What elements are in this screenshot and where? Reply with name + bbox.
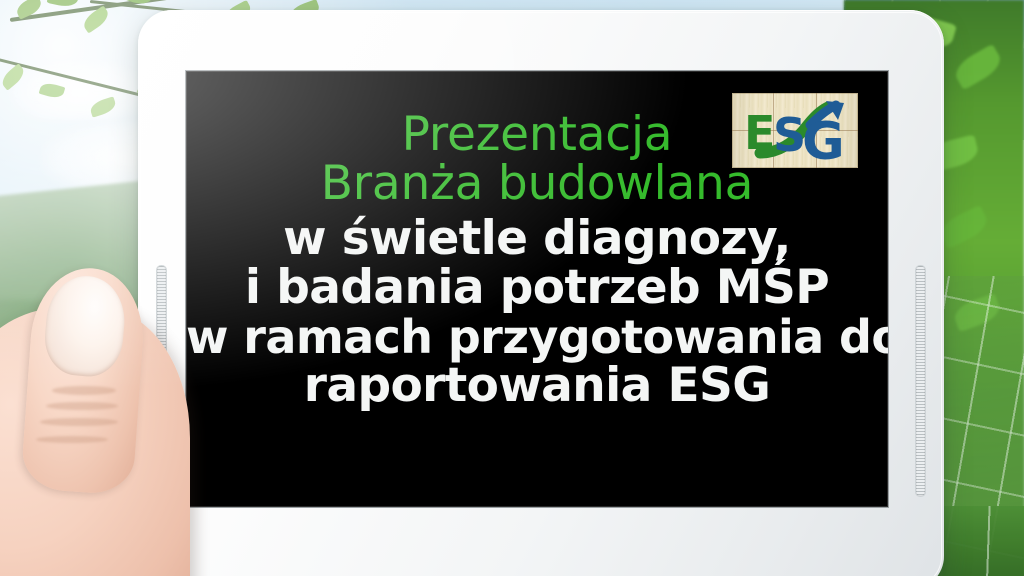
screenshot-stage: E S G Prezentacja Branża budowlana w świ… — [0, 0, 1024, 576]
slide-text-block: Prezentacja Branża budowlana w świetle d… — [186, 111, 888, 410]
slide-line-2: Branża budowlana — [186, 160, 888, 208]
hand-holding-tablet — [0, 268, 240, 576]
slide-line-3: w świetle diagnozy, — [186, 215, 888, 263]
slide-line-5: w ramach przygotowania do — [186, 314, 888, 361]
slide-line-6: raportowania ESG — [186, 362, 888, 410]
tablet-device: E S G Prezentacja Branża budowlana w świ… — [138, 10, 944, 576]
tablet-screen[interactable]: E S G Prezentacja Branża budowlana w świ… — [186, 71, 888, 507]
slide-line-1: Prezentacja — [186, 111, 888, 159]
slide-line-4: i badania potrzeb MŚP — [186, 264, 888, 312]
speaker-grille-right — [915, 265, 926, 497]
